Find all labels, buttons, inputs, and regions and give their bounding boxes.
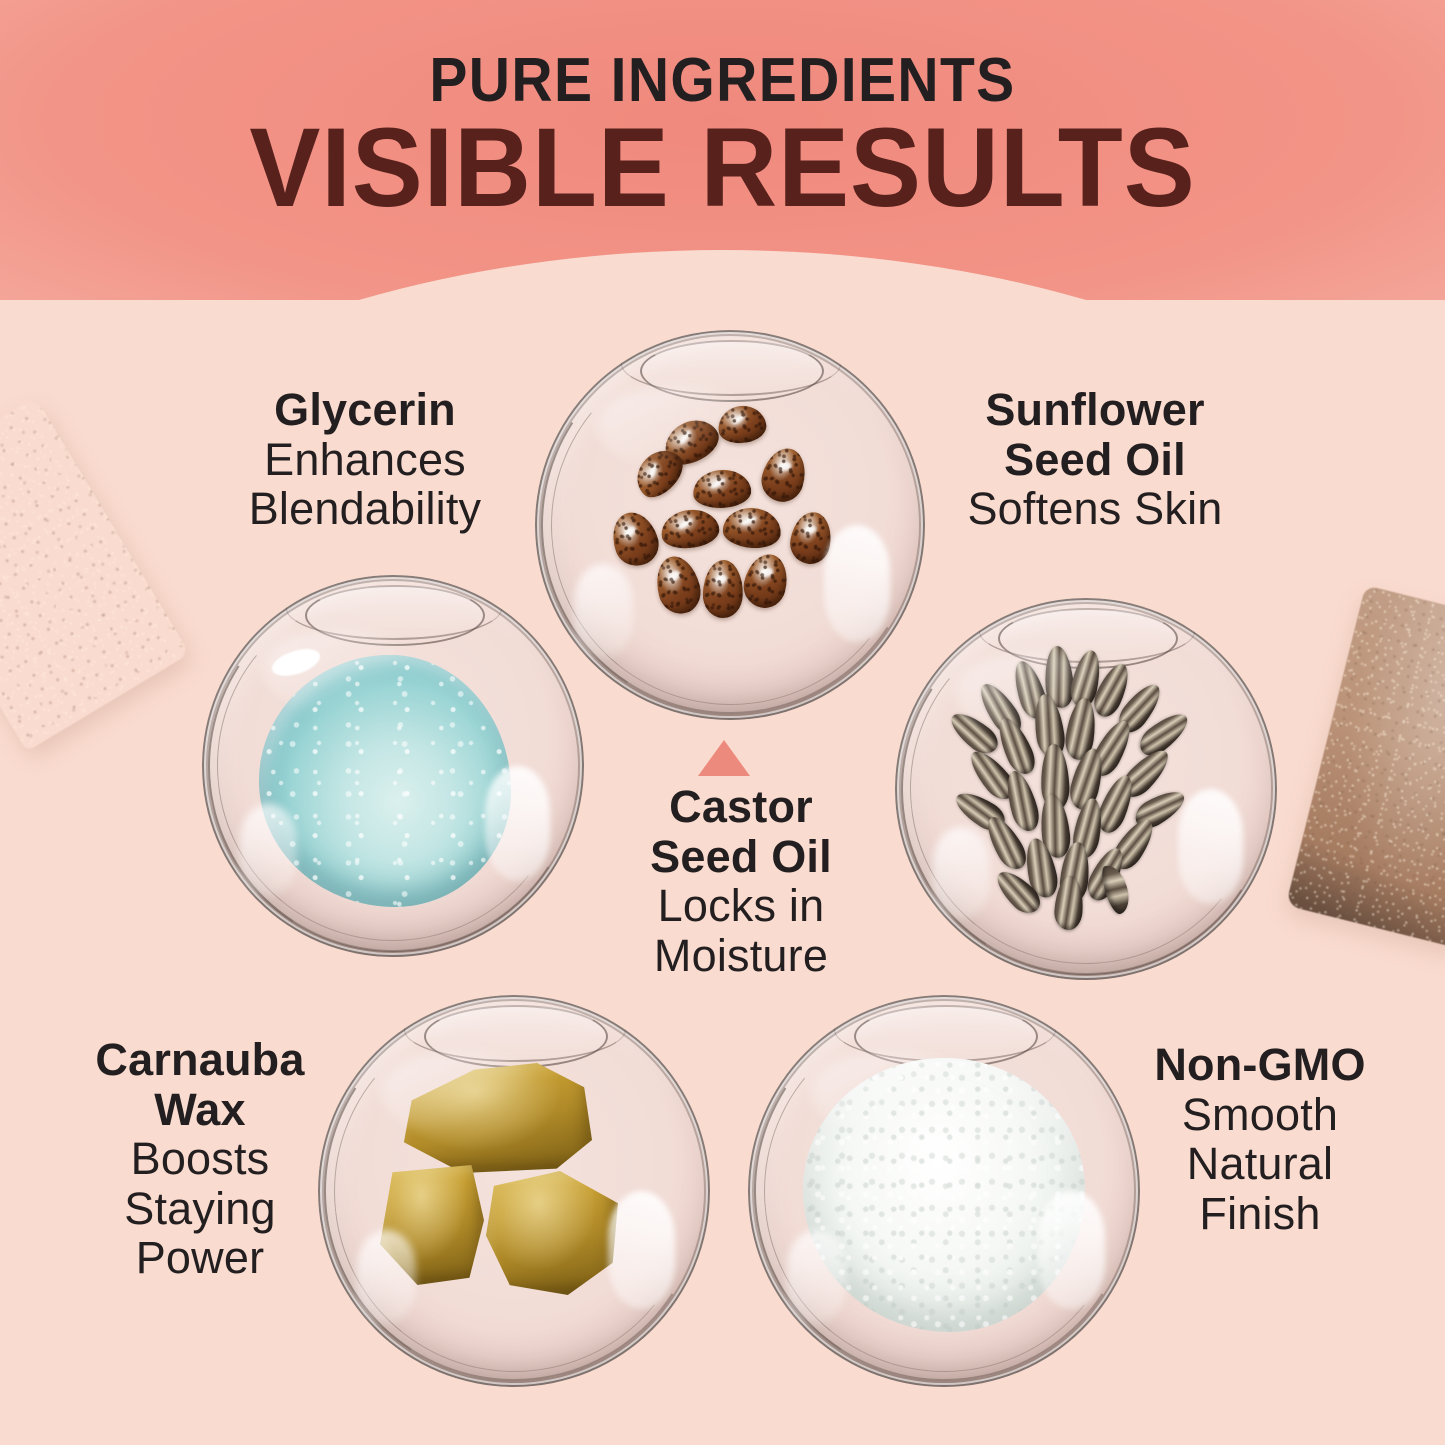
glass-highlight: [956, 651, 1109, 735]
ingredient-benefit-line: Boosts: [50, 1134, 350, 1184]
ingredient-name: Glycerin: [200, 385, 530, 435]
infographic-canvas: PURE INGREDIENTS VISIBLE RESULTS: [0, 0, 1445, 1445]
glass-highlight: [1038, 1191, 1105, 1309]
glass-highlight: [485, 766, 550, 881]
glass-highlight: [824, 525, 890, 642]
ingredient-name: Wax: [50, 1085, 350, 1135]
ingredient-label-sunflower-seed-oil: Sunflower Seed Oil Softens Skin: [930, 385, 1260, 534]
glass-highlight: [811, 1050, 968, 1136]
ingredient-sphere-glycerin: [202, 575, 584, 957]
ingredient-sphere-castor-seed-oil: [535, 330, 925, 720]
glass-highlight: [787, 1230, 846, 1324]
glass-highlight: [597, 385, 753, 471]
header-subtitle: PURE INGREDIENTS: [58, 50, 1387, 112]
glass-highlight: [240, 804, 297, 896]
ingredient-name: Seed Oil: [600, 832, 882, 882]
ingredient-benefit-line: Softens Skin: [930, 484, 1260, 534]
castor-seeds-group: [535, 330, 925, 720]
header-title: VISIBLE RESULTS: [36, 112, 1409, 224]
white-powder-group: [748, 995, 1140, 1387]
glass-highlight: [263, 628, 416, 712]
ingredient-name: Castor: [600, 782, 882, 832]
wax-chunk: [486, 1171, 618, 1295]
ingredient-benefit-line: Blendability: [200, 484, 530, 534]
ingredient-name: Carnauba: [50, 1035, 350, 1085]
glass-highlight: [381, 1050, 538, 1136]
glycerin-gel-group: [202, 575, 584, 957]
glass-highlight: [357, 1230, 416, 1324]
sunflower-seeds-group: [895, 598, 1277, 980]
ingredient-sphere-carnauba-wax: [318, 995, 710, 1387]
ingredient-benefit-line: Smooth: [1110, 1090, 1410, 1140]
ingredient-name: Non-GMO: [1110, 1040, 1410, 1090]
ingredient-benefit-line: Locks in: [600, 881, 882, 931]
glass-highlight: [608, 1191, 675, 1309]
glass-highlight: [933, 827, 990, 919]
ingredient-benefit-line: Enhances: [200, 435, 530, 485]
carnauba-wax-group: [318, 995, 710, 1387]
ingredient-benefit-line: Staying: [50, 1184, 350, 1234]
triangle-pointer-icon: [698, 740, 750, 776]
ingredient-sphere-non-gmo: [748, 995, 1140, 1387]
ingredient-benefit-line: Natural: [1110, 1139, 1410, 1189]
ingredient-name: Seed Oil: [930, 435, 1260, 485]
ingredient-label-carnauba-wax: Carnauba Wax Boosts Staying Power: [50, 1035, 350, 1283]
glass-highlight: [1178, 789, 1243, 904]
ingredient-benefit-line: Moisture: [600, 931, 882, 981]
ingredient-benefit-line: Power: [50, 1233, 350, 1283]
ingredient-label-glycerin: Glycerin Enhances Blendability: [200, 385, 530, 534]
ingredient-sphere-sunflower-seed-oil: [895, 598, 1277, 980]
ingredient-benefit-line: Finish: [1110, 1189, 1410, 1239]
ingredient-name: Sunflower: [930, 385, 1260, 435]
ingredient-label-non-gmo: Non-GMO Smooth Natural Finish: [1110, 1040, 1410, 1238]
ingredient-label-castor-seed-oil: Castor Seed Oil Locks in Moisture: [600, 782, 882, 980]
